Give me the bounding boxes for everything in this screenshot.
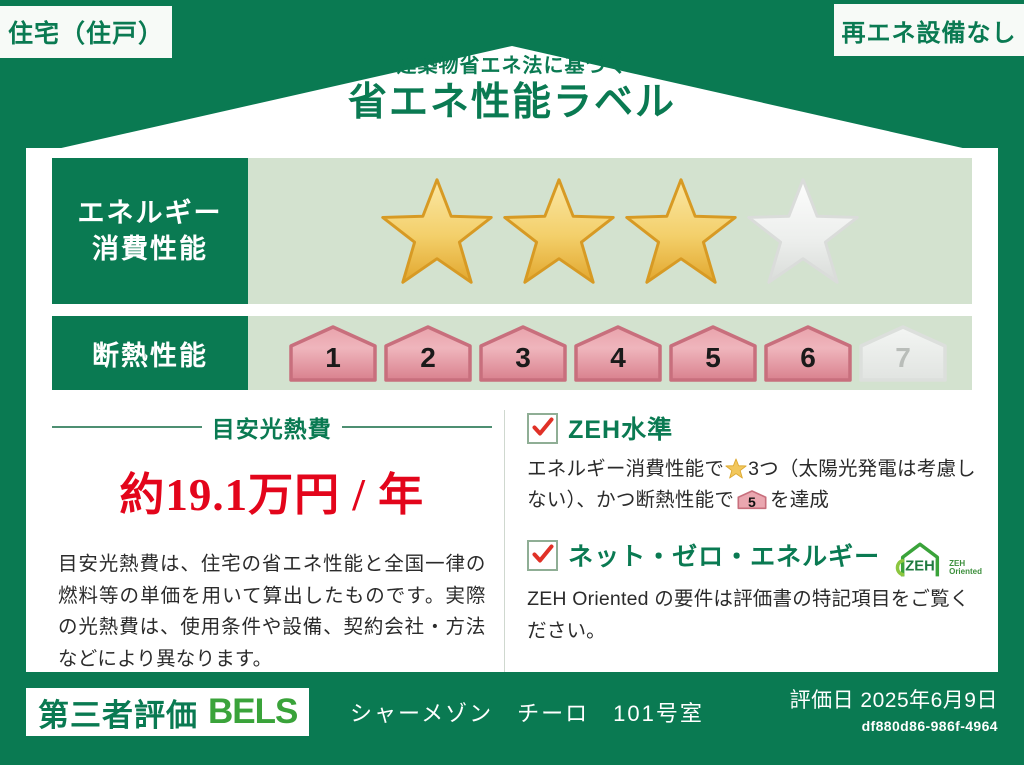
zeh-standard-title: ZEH水準: [568, 410, 673, 446]
zeh-standard-block: ZEH水準 エネルギー消費性能で3つ（太陽光発電は考慮しない）、かつ断熱性能で5…: [527, 410, 982, 516]
footer-band: 第三者評価 BELS シャーメゾン チーロ 101号室 評価日 2025年6月9…: [0, 672, 1024, 765]
net-zero-energy-title: ネット・ゼロ・エネルギー: [568, 537, 880, 573]
rating-rows: エネルギー 消費性能: [52, 158, 972, 402]
star-icon-filled-3: [622, 175, 740, 287]
net-zero-energy-line: ネット・ゼロ・エネルギー ZEH ZEH Oriented: [527, 534, 982, 576]
tag-dwelling-type: 住宅（住戸）: [0, 6, 172, 58]
insulation-level-7: 7: [857, 324, 949, 382]
insulation-level-1: 1: [287, 324, 379, 382]
tag-renewable-equipment: 再エネ設備なし: [834, 4, 1024, 56]
bels-badge: 第三者評価 BELS: [26, 688, 309, 736]
details-section: 目安光熱費 約19.1万円 / 年 目安光熱費は、住宅の省エネ性能と全国一律の燃…: [52, 410, 982, 675]
zeh-oriented-caption: ZEH Oriented: [949, 560, 982, 581]
insulation-level-6: 6: [762, 324, 854, 382]
energy-performance-value: [248, 158, 972, 304]
page-title: 省エネ性能ラベル: [0, 81, 1024, 126]
energy-performance-label: エネルギー 消費性能: [52, 158, 248, 304]
certification-column: ZEH水準 エネルギー消費性能で3つ（太陽光発電は考慮しない）、かつ断熱性能で5…: [504, 410, 982, 675]
insulation-level-5: 5: [667, 324, 759, 382]
bels-brand: BELS: [208, 692, 297, 732]
evaluation-date: 評価日 2025年6月9日: [790, 684, 998, 714]
insulation-level-7-number: 7: [857, 324, 949, 382]
utility-cost-heading: 目安光熱費: [52, 410, 492, 444]
star-icon-filled-1: [378, 175, 496, 287]
header-subtitle: 建築物省エネ法に基づく: [0, 56, 1024, 76]
star-icon-filled-2: [500, 175, 618, 287]
svg-text:ZEH: ZEH: [905, 559, 934, 575]
net-zero-energy-checkbox[interactable]: [527, 540, 558, 571]
net-zero-energy-description: ZEH Oriented の要件は評価書の特記項目をご覧ください。: [527, 584, 982, 646]
insulation-level-3: 3: [477, 324, 569, 382]
energy-label-line2: 消費性能: [92, 231, 208, 267]
insulation-level-3-number: 3: [477, 324, 569, 382]
label-card: エネルギー 消費性能: [26, 148, 998, 672]
energy-performance-row: エネルギー 消費性能: [52, 158, 972, 304]
evaluation-info: 評価日 2025年6月9日 df880d86-986f-4964: [790, 684, 998, 734]
utility-cost-heading-text: 目安光熱費: [212, 410, 332, 444]
insulation-level-1-number: 1: [287, 324, 379, 382]
bels-label: 第三者評価: [38, 690, 198, 735]
heading-rule-right: [342, 426, 492, 428]
net-zero-energy-block: ネット・ゼロ・エネルギー ZEH ZEH Oriented: [527, 534, 982, 646]
inline-house-icon: 5: [737, 489, 767, 510]
zeh-standard-line: ZEH水準: [527, 410, 982, 446]
energy-performance-label: 住宅（住戸） 再エネ設備なし 建築物省エネ法に基づく 省エネ性能ラベル エネルギ…: [0, 0, 1024, 765]
inline-star-icon: [725, 458, 747, 479]
check-icon: [531, 542, 555, 566]
insulation-performance-label: 断熱性能: [52, 316, 248, 390]
insulation-level-2: 2: [382, 324, 474, 382]
insulation-level-4: 4: [572, 324, 664, 382]
energy-label-line1: エネルギー: [78, 195, 223, 231]
zeh-caption-line2: Oriented: [949, 568, 982, 576]
utility-cost-note: 目安光熱費は、住宅の省エネ性能と全国一律の燃料等の単価を用いて算出したものです。…: [52, 549, 492, 675]
inline-house-level: 5: [737, 489, 767, 510]
zeh-desc-part1: エネルギー消費性能で: [527, 458, 724, 480]
star-rating: [378, 175, 862, 287]
check-icon: [531, 415, 555, 439]
insulation-performance-value: 1 2 3 4: [248, 316, 972, 390]
insulation-level-6-number: 6: [762, 324, 854, 382]
insulation-level-2-number: 2: [382, 324, 474, 382]
insulation-level-5-number: 5: [667, 324, 759, 382]
insulation-level-scale: 1 2 3 4: [287, 324, 949, 382]
utility-cost-value: 約19.1万円 / 年: [52, 458, 492, 523]
zeh-standard-checkbox[interactable]: [527, 413, 558, 444]
evaluation-id: df880d86-986f-4964: [790, 718, 998, 734]
building-name: シャーメゾン チーロ 101号室: [350, 688, 704, 736]
header-band: 住宅（住戸） 再エネ設備なし 建築物省エネ法に基づく 省エネ性能ラベル: [0, 0, 1024, 150]
zeh-house-icon: ZEH: [894, 538, 946, 580]
heading-rule-left: [52, 426, 202, 428]
zeh-standard-description: エネルギー消費性能で3つ（太陽光発電は考慮しない）、かつ断熱性能で5を達成: [527, 454, 982, 516]
column-divider: [492, 410, 505, 675]
header-text: 建築物省エネ法に基づく 省エネ性能ラベル: [0, 56, 1024, 126]
insulation-level-4-number: 4: [572, 324, 664, 382]
zeh-desc-part3: を達成: [770, 489, 829, 511]
zeh-oriented-logo: ZEH ZEH Oriented: [894, 538, 982, 580]
utility-cost-column: 目安光熱費 約19.1万円 / 年 目安光熱費は、住宅の省エネ性能と全国一律の燃…: [52, 410, 492, 675]
star-icon-empty-4: [744, 175, 862, 287]
insulation-performance-row: 断熱性能 1 2: [52, 316, 972, 390]
